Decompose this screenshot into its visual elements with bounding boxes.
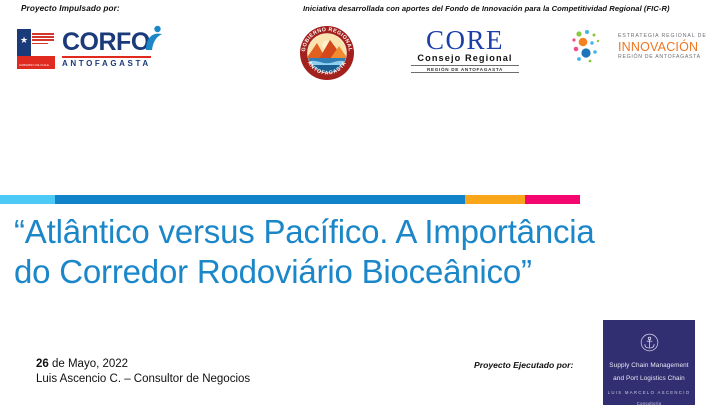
corfo-logo: ★ GOBIERNO DE CHILE CORFO ANTOFAGASTA <box>17 29 151 69</box>
color-bar-segment-4 <box>525 195 580 204</box>
presentation-slide: Proyecto Impulsado por: Iniciativa desar… <box>0 0 720 405</box>
card-line-2: and Port Logistics Chain <box>603 375 695 383</box>
corfo-rule <box>62 56 151 58</box>
eri-innovacion-logo: ESTRATEGIA REGIONAL DE INNOVACIÓN REGIÓN… <box>570 28 707 66</box>
eri-line-3: REGIÓN DE ANTOFAGASTA <box>618 54 707 61</box>
sponsor-label: Proyecto Impulsado por: <box>21 4 120 13</box>
color-bar-segment-1 <box>0 195 55 204</box>
title-line-2: do Corredor Rodoviário Bioceânico” <box>14 252 714 292</box>
page-title: “Atlântico versus Pacífico. A Importânci… <box>14 212 714 292</box>
eri-line-1: ESTRATEGIA REGIONAL DE <box>618 33 707 40</box>
card-line-3: LUIS MARCELO ASCENCIO <box>603 390 695 395</box>
corfo-region-label: ANTOFAGASTA <box>62 59 151 68</box>
flag-caption: GOBIERNO DE CHILE <box>19 64 49 67</box>
core-wordmark: CORE <box>411 27 519 54</box>
core-region-label: REGIÓN DE ANTOFAGASTA <box>411 65 519 73</box>
innovation-dots-icon <box>570 28 614 66</box>
flag-star-icon: ★ <box>20 36 28 44</box>
core-subtitle: Consejo Regional <box>411 53 519 64</box>
anchor-icon <box>603 333 695 357</box>
footer-block: 26 de Mayo, 2022 Luis Ascencio C. – Cons… <box>36 357 250 387</box>
eri-line-2: INNOVACIÓN <box>618 40 707 54</box>
funding-label: Iniciativa desarrollada con aportes del … <box>303 4 670 13</box>
chile-flag-icon: ★ GOBIERNO DE CHILE <box>17 29 55 69</box>
date-day: 26 <box>36 358 49 370</box>
color-bar-segment-3 <box>465 195 525 204</box>
author-name: Luis Ascencio C. – Consultor de Negocios <box>36 372 250 387</box>
corfo-wordmark: CORFO <box>62 30 151 55</box>
gobierno-regional-seal: GOBIERNO REGIONAL ANTOFAGASTA <box>299 25 355 81</box>
date-rest: de Mayo, 2022 <box>49 358 128 370</box>
color-bar-segment-2 <box>55 195 465 204</box>
accent-color-bar <box>0 195 580 204</box>
card-line-1: Supply Chain Management <box>603 362 695 370</box>
consultancy-logo-card: Supply Chain Management and Port Logisti… <box>603 320 695 405</box>
core-logo: CORE Consejo Regional REGIÓN DE ANTOFAGA… <box>411 27 519 73</box>
title-line-1: “Atlântico versus Pacífico. A Importânci… <box>14 212 714 252</box>
presentation-date: 26 de Mayo, 2022 <box>36 357 250 372</box>
corfo-swoosh-icon <box>144 25 164 51</box>
card-line-4: Consultoría <box>603 401 695 405</box>
executed-by-label: Proyecto Ejecutado por: <box>474 360 573 370</box>
